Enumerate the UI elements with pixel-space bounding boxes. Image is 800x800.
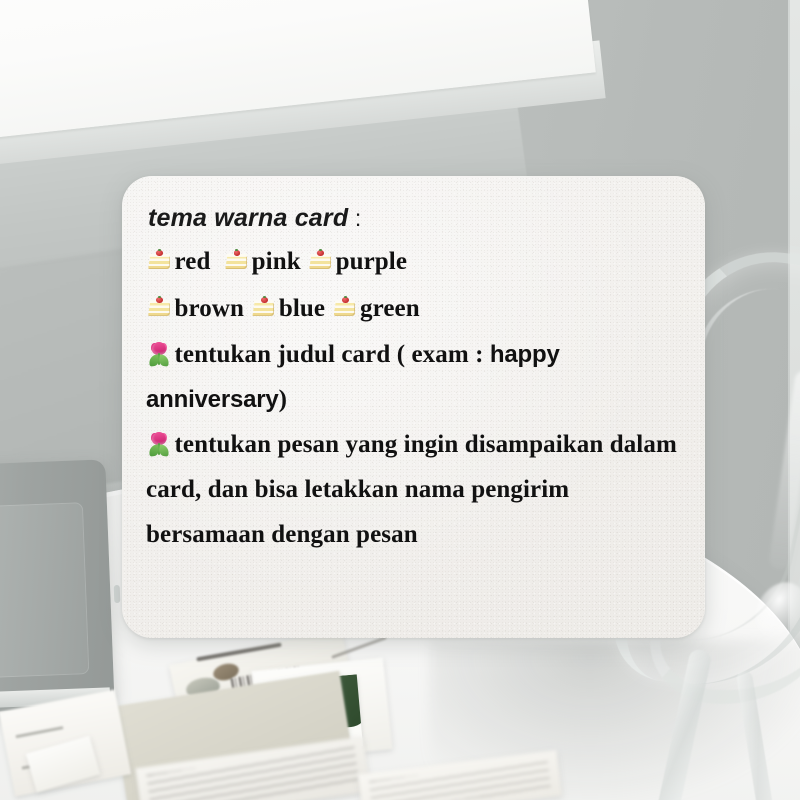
cake-slice-icon <box>307 248 333 274</box>
tulip-icon <box>146 431 172 457</box>
color-theme-row-2: brown blue green <box>146 286 679 333</box>
note-heading: tema warna card : <box>146 204 679 233</box>
color-label-green: green <box>360 295 420 322</box>
cake-slice-icon <box>250 294 276 320</box>
color-label-pink: pink <box>252 248 301 275</box>
cake-slice-icon <box>223 248 249 274</box>
cake-slice-icon <box>146 294 172 320</box>
color-label-purple: purple <box>336 248 407 275</box>
instruction-title-text: tentukan judul card ( exam : <box>175 341 490 368</box>
color-label-brown: brown <box>175 295 245 322</box>
instruction-message-text: tentukan pesan yang ingin disampaikan da… <box>146 431 677 548</box>
color-theme-row-1: red pink purple <box>146 239 679 286</box>
note-heading-colon: : <box>348 205 361 231</box>
laptop-clip <box>114 585 121 603</box>
color-label-red: red <box>175 248 211 275</box>
instruction-title: tentukan judul card ( exam : happy anniv… <box>146 332 679 422</box>
instruction-title-close-paren: ) <box>279 386 287 413</box>
tulip-icon <box>146 341 172 367</box>
laptop-panel <box>0 502 89 678</box>
grey-laptop-sleeve <box>0 459 115 712</box>
note-card: tema warna card : red pink purple brown … <box>122 176 705 638</box>
instruction-message: tentukan pesan yang ingin disampaikan da… <box>146 422 679 557</box>
note-heading-text: tema warna card <box>148 204 348 232</box>
color-label-blue: blue <box>279 295 325 322</box>
note-card-content: tema warna card : red pink purple brown … <box>122 176 705 638</box>
card-rule-line <box>16 726 64 738</box>
cake-slice-icon <box>146 248 172 274</box>
screenshot-root: tema warna card : red pink purple brown … <box>0 0 800 800</box>
cake-slice-icon <box>331 294 357 320</box>
